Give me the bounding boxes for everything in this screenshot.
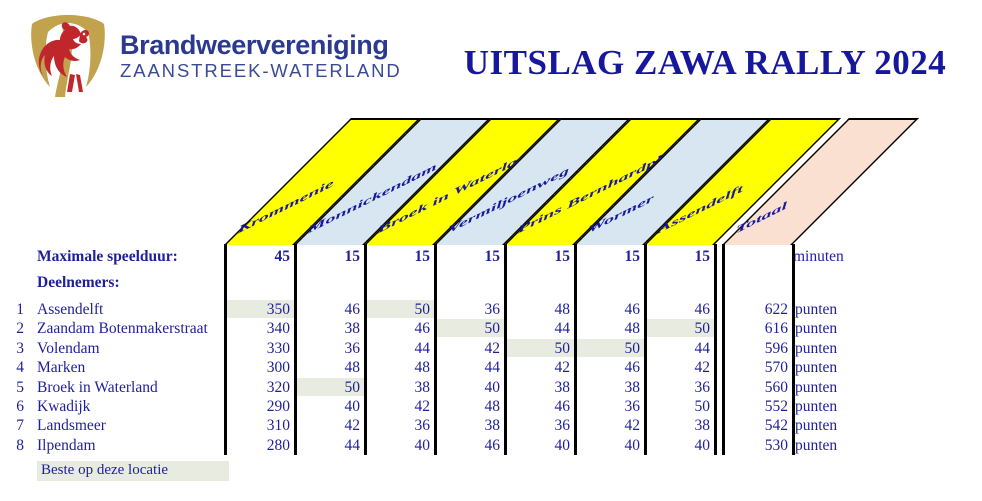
column-divider: [294, 244, 297, 455]
score-cell: 50: [578, 340, 640, 358]
logo-wordmark: Brandweervereniging ZAANSTREEK-WATERLAND: [120, 30, 395, 81]
score-cell: 48: [508, 301, 570, 319]
score-cell: 36: [508, 417, 570, 435]
total-column-divider: [722, 244, 725, 455]
score-cell: 46: [648, 301, 710, 319]
page-title: UITSLAG ZAWA RALLY 2024: [435, 43, 975, 83]
column-header-assendelft[interactable]: Assendelft: [644, 118, 714, 245]
unit-points-label: punten: [795, 437, 837, 455]
angled-column-headers: KrommenieMonnickendamBroek in WaterlandV…: [0, 118, 982, 246]
row-team-name: Zaandam Botenmakerstraat: [37, 320, 208, 338]
row-team-name: Ilpendam: [37, 437, 96, 455]
score-cell: 46: [438, 437, 500, 455]
score-cell: 46: [578, 359, 640, 377]
logo-name-line: Brandweervereniging: [120, 30, 395, 60]
score-cell: 40: [578, 437, 640, 455]
legend-best-label: Beste op deze locatie: [41, 462, 168, 479]
column-divider: [434, 244, 437, 455]
row-team-name: Kwadijk: [37, 398, 90, 416]
row-rank: 2: [10, 320, 24, 338]
row-rank: 5: [10, 379, 24, 397]
max-minutes-value: 15: [298, 248, 360, 266]
results-sheet: Brandweervereniging ZAANSTREEK-WATERLAND…: [0, 0, 982, 501]
column-header-vermiljoenweg[interactable]: Vermiljoenweg: [434, 118, 504, 245]
score-cell: 44: [368, 340, 430, 358]
score-cell: 50: [438, 320, 500, 338]
unit-points-label: punten: [795, 359, 837, 377]
score-cell: 42: [578, 417, 640, 435]
unit-points-label: punten: [795, 340, 837, 358]
row-team-name: Landsmeer: [37, 417, 106, 435]
score-cell: 38: [298, 320, 360, 338]
score-cell: 36: [438, 301, 500, 319]
score-cell: 38: [438, 417, 500, 435]
score-cell: 330: [228, 340, 290, 358]
score-cell: 42: [368, 398, 430, 416]
total-cell: 560: [726, 379, 788, 397]
score-cell: 46: [578, 301, 640, 319]
unit-points-label: punten: [795, 398, 837, 416]
row-rank: 7: [10, 417, 24, 435]
score-cell: 38: [368, 379, 430, 397]
column-header-monnickendam[interactable]: Monnickendam: [294, 118, 364, 245]
score-cell: 44: [648, 340, 710, 358]
score-cell: 36: [578, 398, 640, 416]
total-cell: 596: [726, 340, 788, 358]
column-header-krommenie[interactable]: Krommenie: [224, 118, 294, 245]
association-logo: Brandweervereniging ZAANSTREEK-WATERLAND: [14, 8, 394, 102]
rooster-shield-icon: [18, 12, 118, 100]
unit-points-label: punten: [795, 379, 837, 397]
score-cell: 50: [368, 301, 430, 319]
row-rank: 8: [10, 437, 24, 455]
score-cell: 40: [298, 398, 360, 416]
score-cell: 42: [298, 417, 360, 435]
row-rank: 4: [10, 359, 24, 377]
score-cell: 50: [508, 340, 570, 358]
row-rank: 1: [10, 301, 24, 319]
row-team-name: Assendelft: [37, 301, 103, 319]
column-divider: [714, 244, 717, 455]
max-minutes-value: 15: [648, 248, 710, 266]
legend-best-at-location: Beste op deze locatie: [37, 461, 229, 481]
max-minutes-value: 15: [368, 248, 430, 266]
row-rank: 3: [10, 340, 24, 358]
row-team-name: Volendam: [37, 340, 100, 358]
score-cell: 40: [368, 437, 430, 455]
unit-points-label: punten: [795, 320, 837, 338]
score-cell: 50: [648, 320, 710, 338]
results-table: Maximale speelduur: Deelnemers: minuten …: [0, 244, 982, 459]
column-header-wormer[interactable]: Wormer: [574, 118, 644, 245]
score-cell: 310: [228, 417, 290, 435]
score-cell: 38: [578, 379, 640, 397]
column-header-prins-bernhardplein[interactable]: Prins Bernhardplein: [504, 118, 574, 245]
score-cell: 44: [438, 359, 500, 377]
participants-label: Deelnemers:: [37, 274, 120, 292]
score-cell: 48: [368, 359, 430, 377]
score-cell: 290: [228, 398, 290, 416]
score-cell: 48: [298, 359, 360, 377]
total-cell: 552: [726, 398, 788, 416]
score-cell: 44: [298, 437, 360, 455]
total-cell: 542: [726, 417, 788, 435]
score-cell: 50: [298, 379, 360, 397]
max-minutes-value: 15: [578, 248, 640, 266]
total-cell: 570: [726, 359, 788, 377]
score-cell: 36: [648, 379, 710, 397]
max-minutes-value: 15: [438, 248, 500, 266]
unit-points-label: punten: [795, 417, 837, 435]
score-cell: 42: [508, 359, 570, 377]
total-cell: 616: [726, 320, 788, 338]
score-cell: 300: [228, 359, 290, 377]
logo-region-line: ZAANSTREEK-WATERLAND: [120, 60, 395, 81]
column-header-totaal[interactable]: Totaal: [722, 118, 792, 245]
row-rank: 6: [10, 398, 24, 416]
score-cell: 42: [438, 340, 500, 358]
unit-minutes-label: minuten: [793, 248, 844, 266]
row-team-name: Broek in Waterland: [37, 379, 158, 397]
max-playtime-label: Maximale speelduur:: [37, 248, 178, 266]
score-cell: 40: [648, 437, 710, 455]
score-cell: 40: [508, 437, 570, 455]
score-cell: 46: [368, 320, 430, 338]
total-cell: 530: [726, 437, 788, 455]
total-cell: 622: [726, 301, 788, 319]
column-divider: [364, 244, 367, 455]
score-cell: 48: [438, 398, 500, 416]
score-cell: 320: [228, 379, 290, 397]
score-cell: 36: [298, 340, 360, 358]
unit-points-label: punten: [795, 301, 837, 319]
row-team-name: Marken: [37, 359, 85, 377]
score-cell: 46: [298, 301, 360, 319]
score-cell: 48: [578, 320, 640, 338]
score-cell: 340: [228, 320, 290, 338]
max-minutes-value: 45: [228, 248, 290, 266]
score-cell: 38: [508, 379, 570, 397]
score-cell: 40: [438, 379, 500, 397]
score-cell: 44: [508, 320, 570, 338]
score-cell: 50: [648, 398, 710, 416]
score-cell: 46: [508, 398, 570, 416]
column-divider: [644, 244, 647, 455]
score-cell: 350: [228, 301, 290, 319]
score-cell: 36: [368, 417, 430, 435]
score-cell: 38: [648, 417, 710, 435]
column-divider: [224, 244, 227, 455]
max-minutes-value: 15: [508, 248, 570, 266]
score-cell: 42: [648, 359, 710, 377]
score-cell: 280: [228, 437, 290, 455]
column-header-broek-in-waterland[interactable]: Broek in Waterland: [364, 118, 434, 245]
